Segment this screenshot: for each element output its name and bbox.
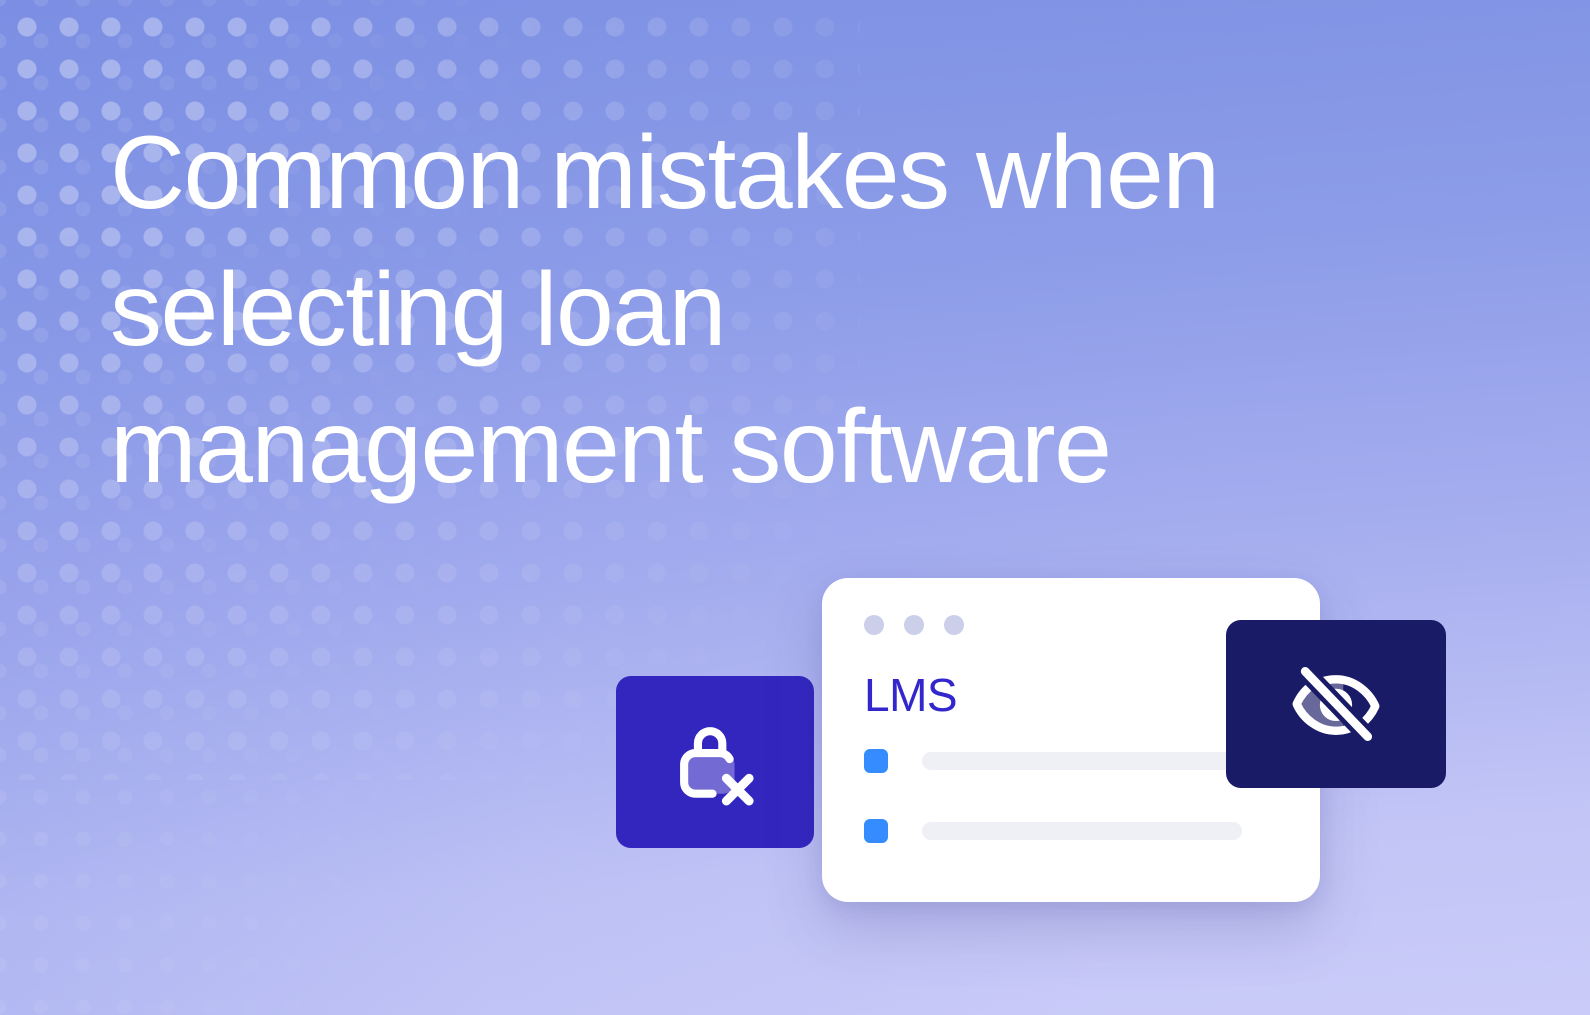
placeholder-bar <box>922 822 1242 840</box>
eye-off-badge <box>1226 620 1446 788</box>
browser-window-dots <box>864 615 964 635</box>
window-dot-2 <box>904 615 924 635</box>
window-dot-3 <box>944 615 964 635</box>
checkbox-icon <box>864 819 888 843</box>
hero-banner: Common mistakes when selecting loan mana… <box>0 0 1590 1015</box>
placeholder-bar <box>922 752 1262 770</box>
lms-title: LMS <box>864 672 957 718</box>
eye-off-icon <box>1278 646 1394 762</box>
lock-x-icon <box>663 710 767 814</box>
lock-x-badge <box>616 676 814 848</box>
list-item <box>864 818 1298 844</box>
page-title: Common mistakes when selecting loan mana… <box>110 105 1340 516</box>
checkbox-icon <box>864 749 888 773</box>
window-dot-1 <box>864 615 884 635</box>
